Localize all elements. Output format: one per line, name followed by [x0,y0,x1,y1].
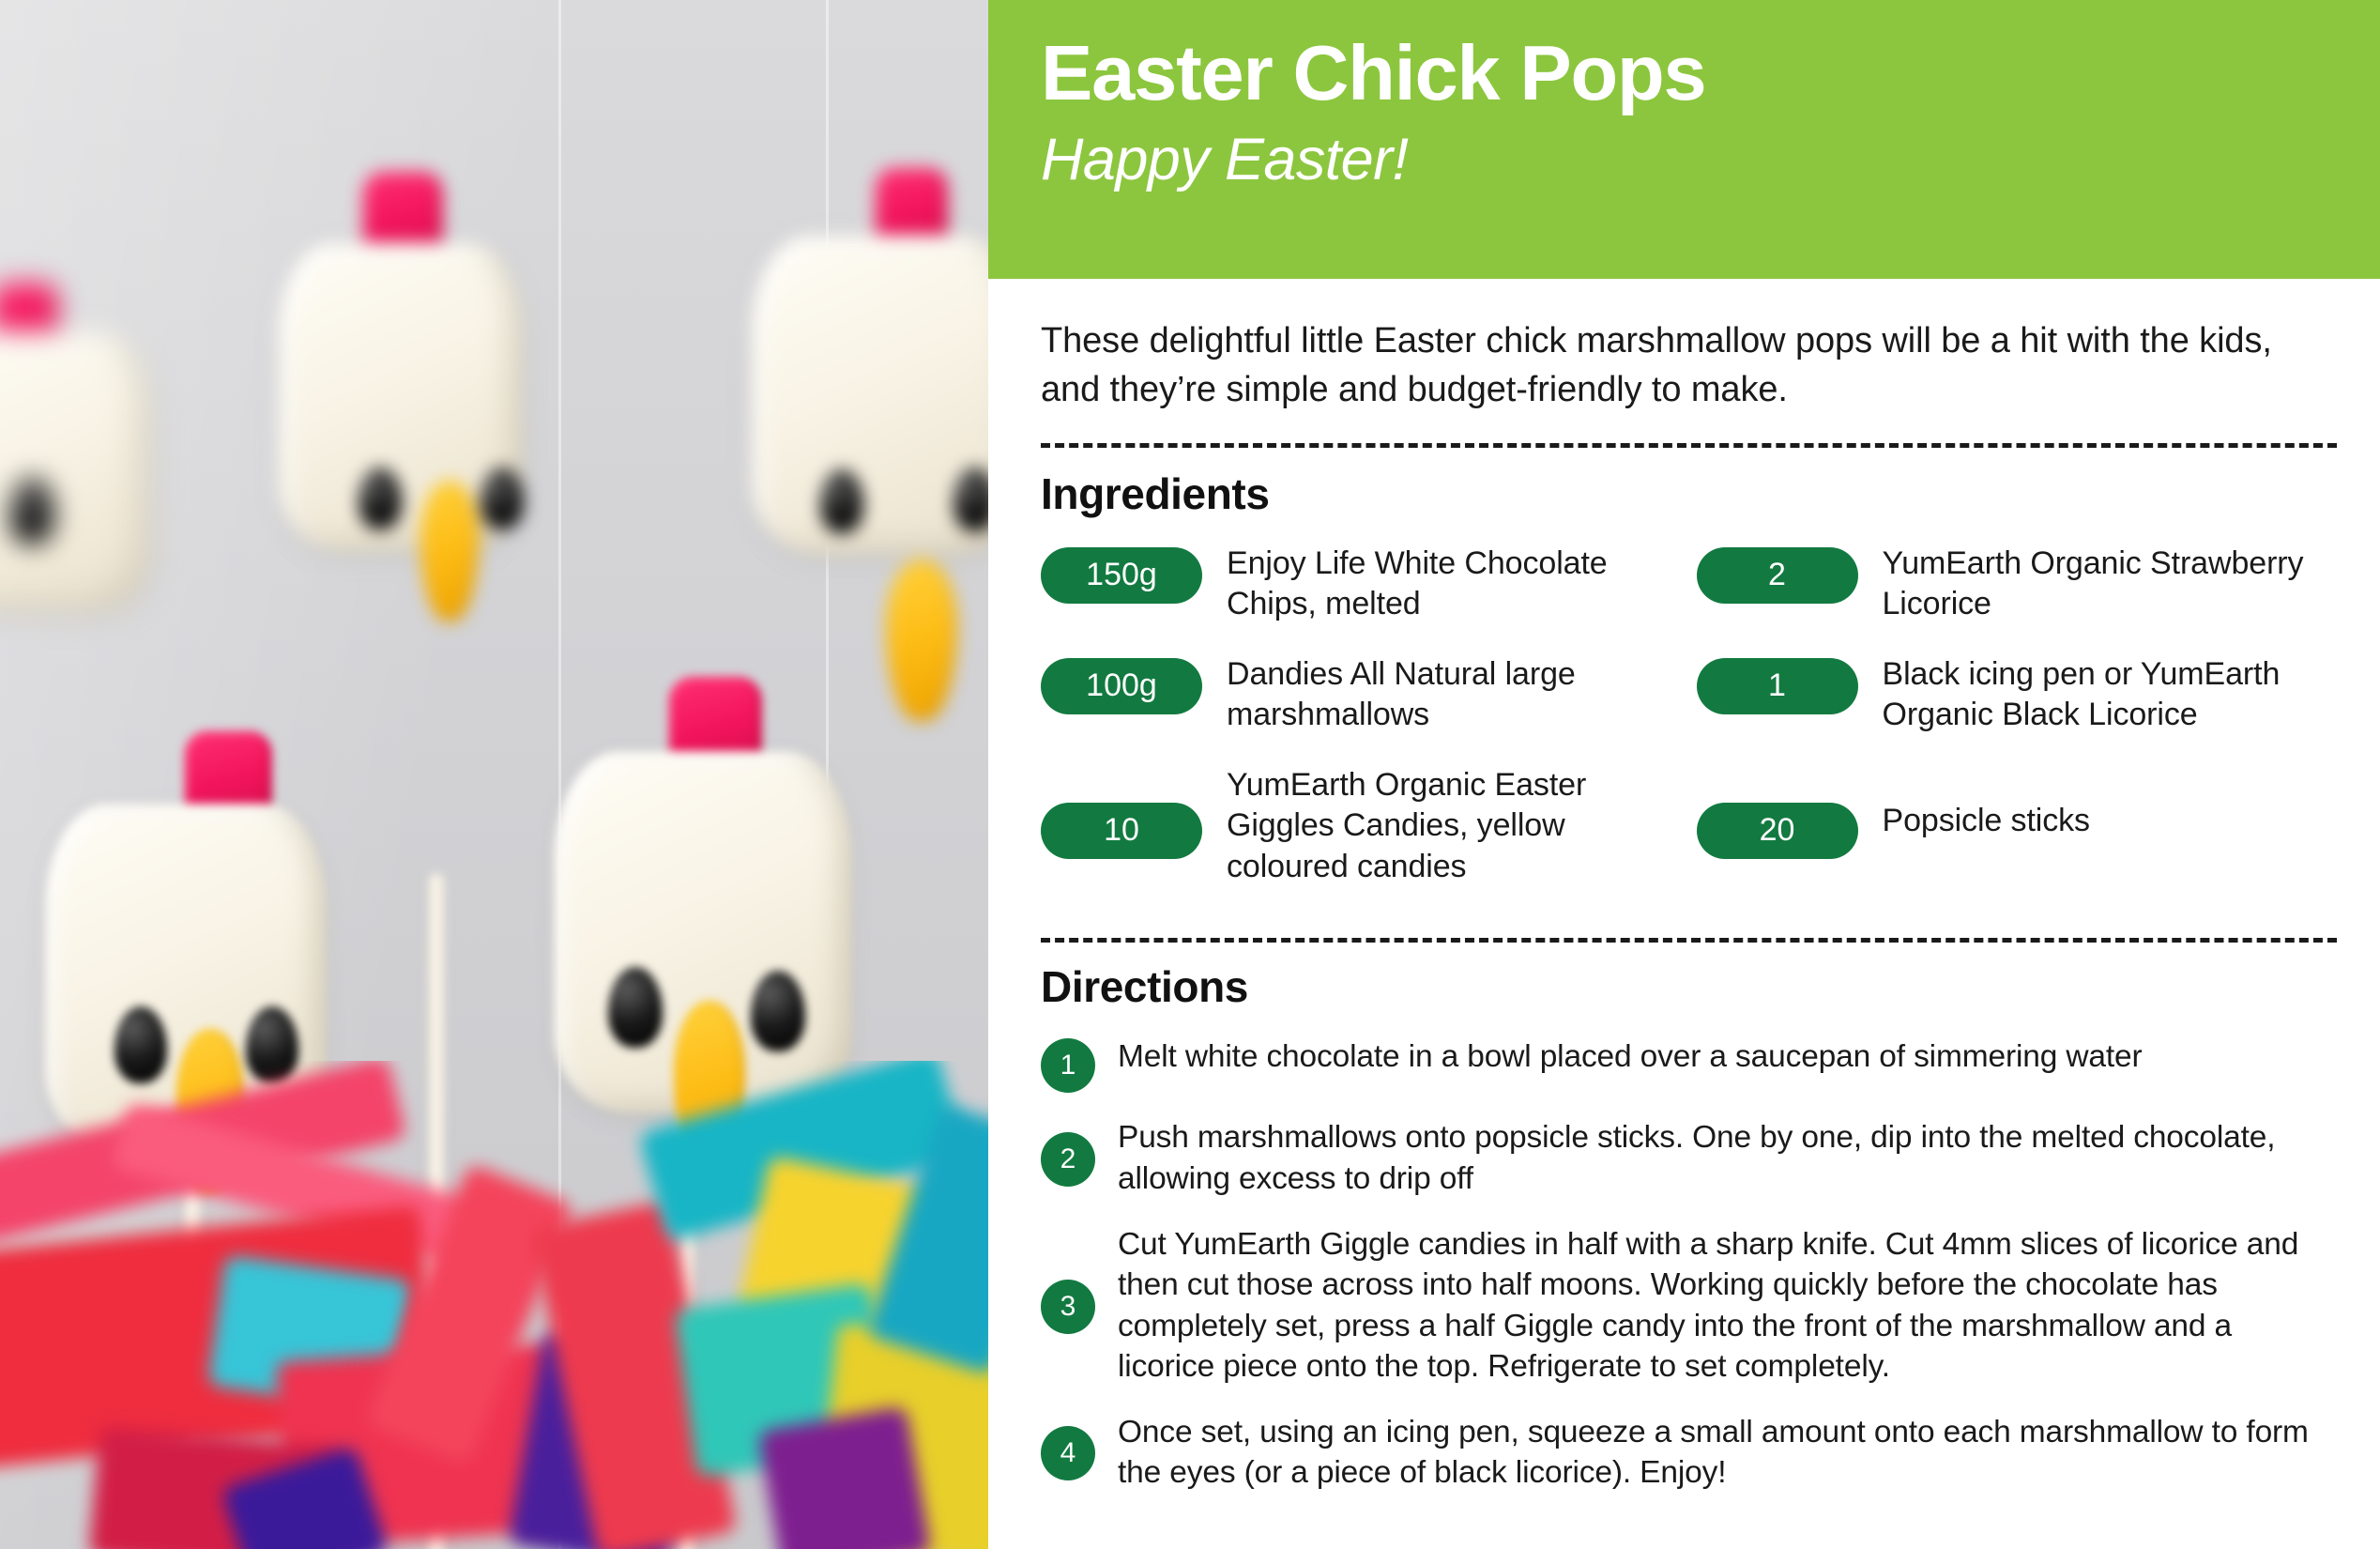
ingredients-column-left: 150g Enjoy Life White Chocolate Chips, m… [1041,544,1682,909]
ingredient-label: YumEarth Organic Easter Giggles Candies,… [1227,765,1668,888]
body-area: These delightful little Easter chick mar… [988,279,2380,1549]
recipe-content: Easter Chick Pops Happy Easter! These de… [988,0,2380,1549]
amount-badge: 100g [1041,658,1202,714]
direction-step: 1 Melt white chocolate in a bowl placed … [1041,1036,2337,1093]
direction-step: 2 Push marshmallows onto popsicle sticks… [1041,1117,2337,1199]
direction-step: 3 Cut YumEarth Giggle candies in half wi… [1041,1224,2337,1388]
ingredient-label: Enjoy Life White Chocolate Chips, melted [1227,544,1668,625]
direction-step: 4 Once set, using an icing pen, squeeze … [1041,1412,2337,1494]
crepe-streamers [0,1061,988,1549]
step-number-badge: 4 [1041,1426,1095,1480]
ingredient-label: Dandies All Natural large marshmallows [1227,654,1668,736]
amount-badge: 150g [1041,547,1202,604]
ingredients-column-right: 2 YumEarth Organic Strawberry Licorice 1… [1697,544,2338,909]
ingredient-item: 10 YumEarth Organic Easter Giggles Candi… [1041,765,1682,888]
amount-badge: 10 [1041,803,1202,859]
page-title: Easter Chick Pops [1041,32,2380,114]
ingredient-item: 100g Dandies All Natural large marshmall… [1041,654,1682,744]
ingredient-item: 1 Black icing pen or YumEarth Organic Bl… [1697,654,2338,744]
step-number-badge: 3 [1041,1280,1095,1334]
header-band: Easter Chick Pops Happy Easter! [988,0,2380,279]
recipe-photo [0,0,988,1549]
ingredient-item: 2 YumEarth Organic Strawberry Licorice [1697,544,2338,634]
amount-badge: 2 [1697,547,1858,604]
ingredients-heading: Ingredients [1041,468,2337,519]
ingredient-item: 150g Enjoy Life White Chocolate Chips, m… [1041,544,1682,634]
step-text: Push marshmallows onto popsicle sticks. … [1118,1117,2337,1199]
recipe-card: Easter Chick Pops Happy Easter! These de… [0,0,2380,1549]
intro-description: These delightful little Easter chick mar… [1041,316,2337,415]
step-number-badge: 1 [1041,1038,1095,1093]
step-text: Cut YumEarth Giggle candies in half with… [1118,1224,2337,1388]
divider-top [1041,443,2337,448]
ingredient-item: 20 Popsicle sticks [1697,765,2338,859]
step-number-badge: 2 [1041,1132,1095,1187]
page-subtitle: Happy Easter! [1041,125,2380,194]
step-text: Melt white chocolate in a bowl placed ov… [1118,1036,2143,1078]
ingredients-grid: 150g Enjoy Life White Chocolate Chips, m… [1041,544,2337,909]
ingredient-label: Black icing pen or YumEarth Organic Blac… [1883,654,2338,736]
directions-heading: Directions [1041,961,2337,1012]
amount-badge: 20 [1697,803,1858,859]
step-text: Once set, using an icing pen, squeeze a … [1118,1412,2337,1494]
directions-list: 1 Melt white chocolate in a bowl placed … [1041,1036,2337,1493]
divider-bottom [1041,938,2337,943]
ingredient-label: YumEarth Organic Strawberry Licorice [1883,544,2338,625]
streamer-ribbon [757,1405,931,1549]
ingredient-label: Popsicle sticks [1883,801,2090,842]
amount-badge: 1 [1697,658,1858,714]
